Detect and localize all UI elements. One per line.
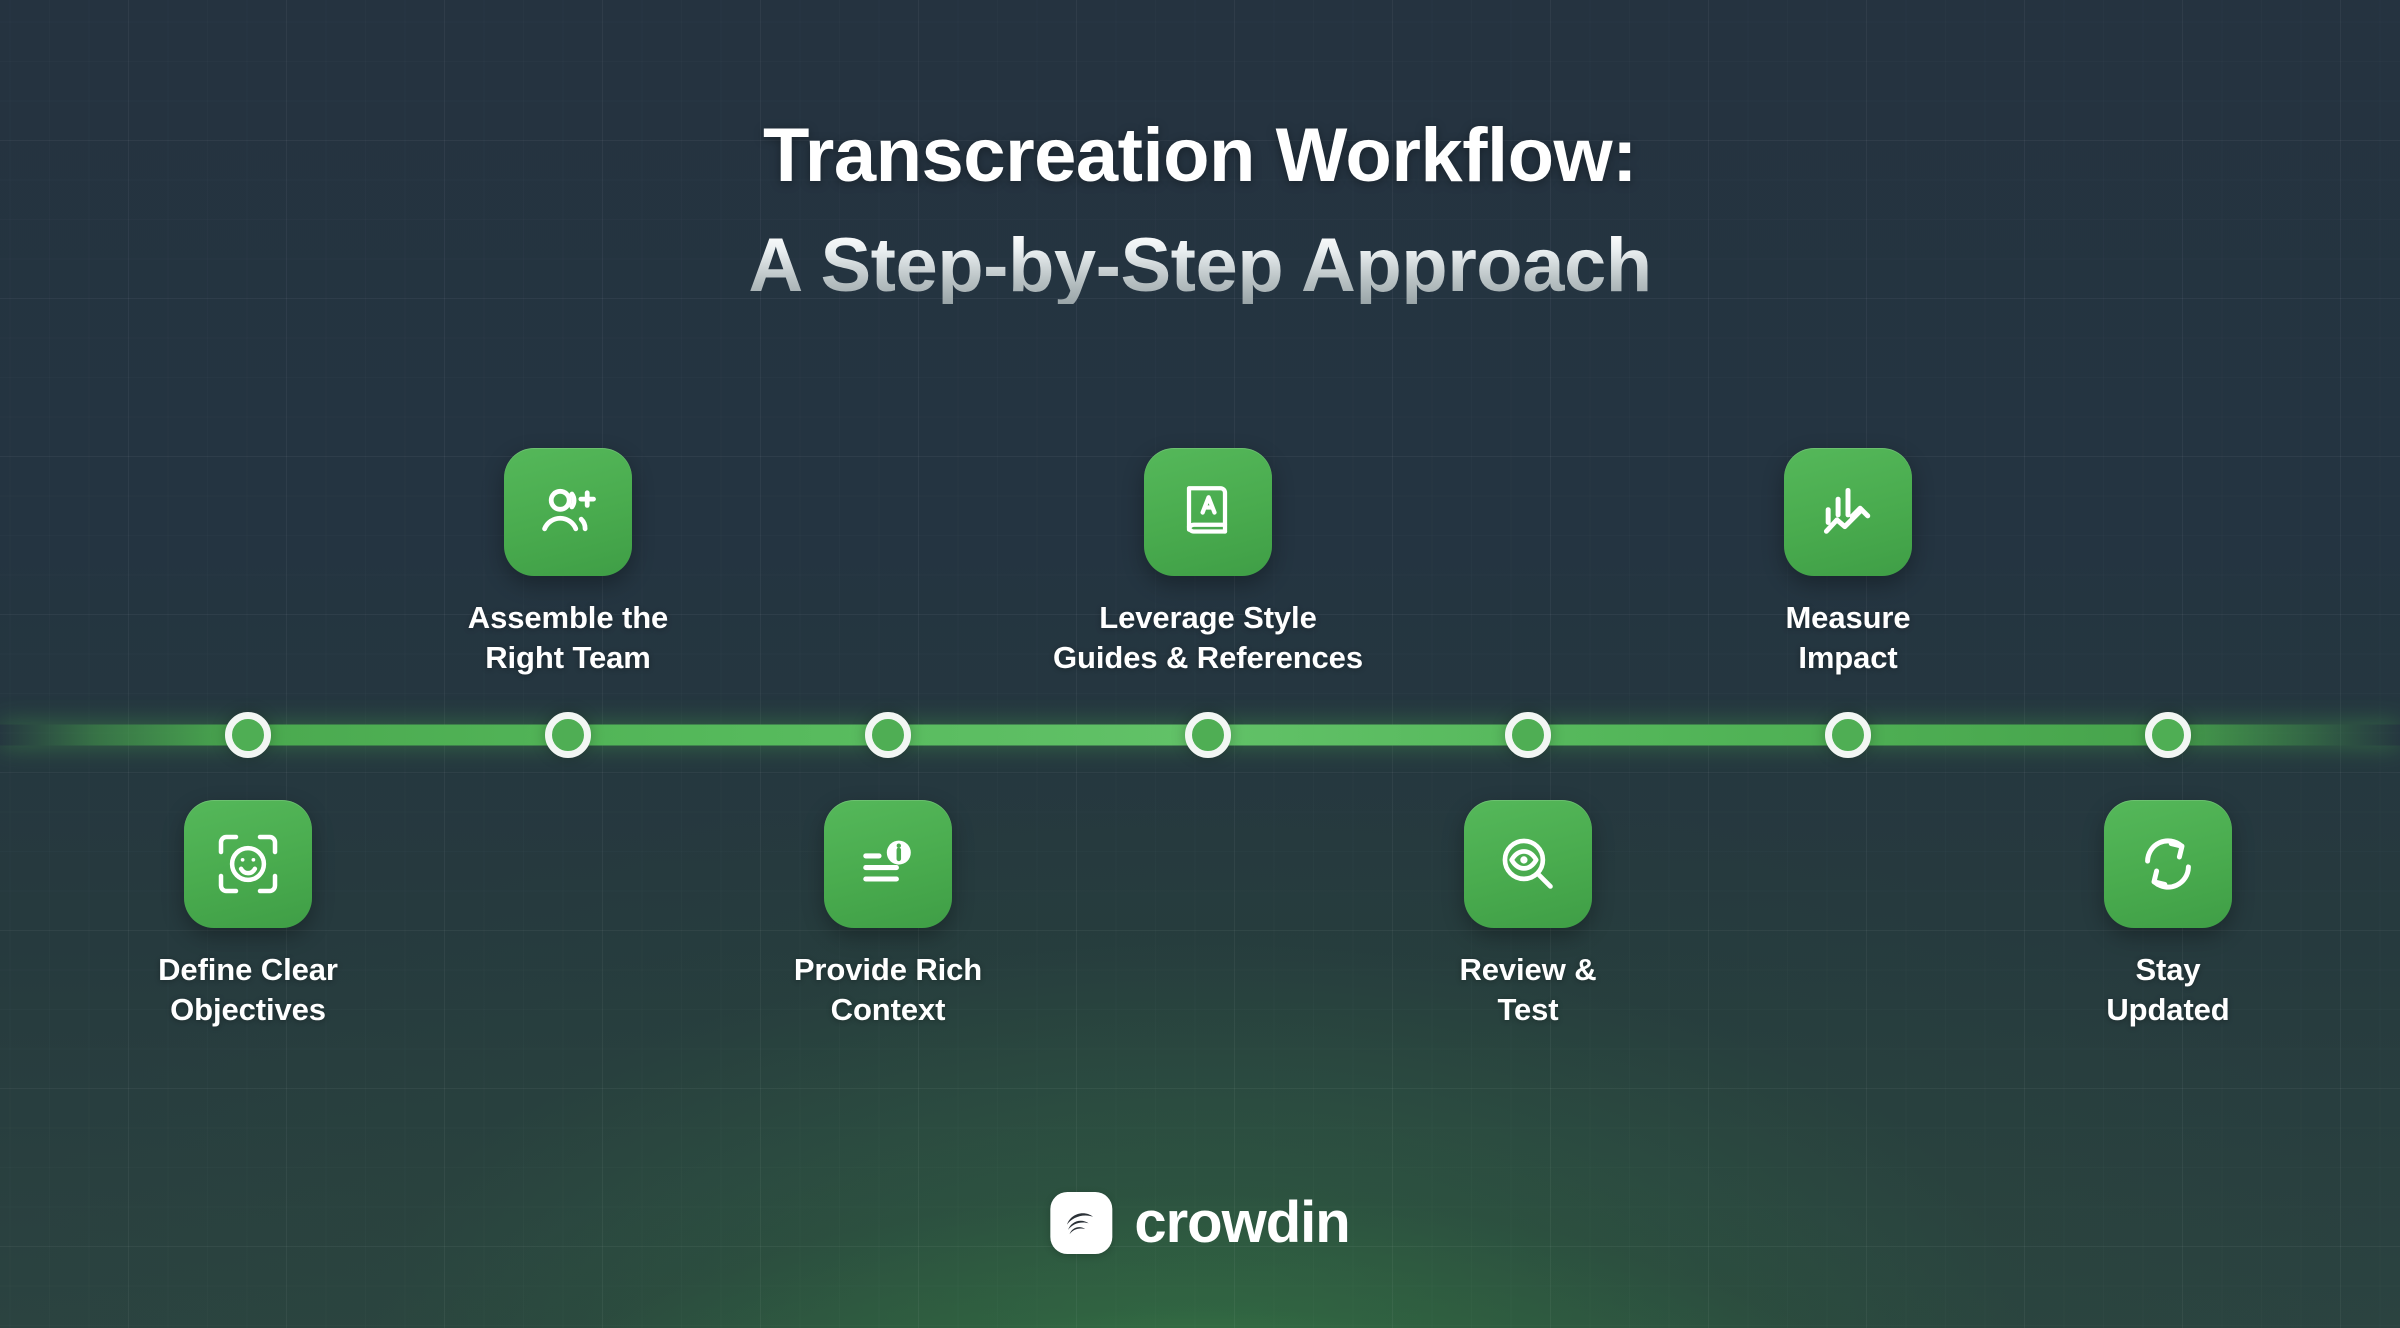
step-label: Measure Impact: [1668, 598, 2028, 677]
step-provide-rich-context[interactable]: Provide Rich Context: [708, 800, 1068, 1029]
user-plus-icon-tile: [504, 448, 632, 576]
crowdin-logo[interactable]: crowdin: [1050, 1192, 1349, 1254]
crowdin-wordmark: crowdin: [1134, 1194, 1349, 1252]
page-title: Transcreation Workflow: A Step-by-Step A…: [0, 118, 2400, 304]
bar-chart-trend-icon: [1813, 477, 1883, 547]
step-label-line2: Guides & References: [1028, 638, 1388, 678]
document-info-icon: [852, 828, 924, 900]
infographic-canvas: Transcreation Workflow: A Step-by-Step A…: [0, 0, 2400, 1328]
step-label-line1: Assemble the: [468, 600, 668, 635]
dictionary-book-icon: [1174, 478, 1242, 546]
step-measure-impact[interactable]: Measure Impact: [1668, 448, 2028, 677]
timeline-dot-3[interactable]: [865, 712, 911, 758]
refresh-sync-icon-tile: [2104, 800, 2232, 928]
step-label: Stay Updated: [1988, 950, 2348, 1029]
timeline-dot-6[interactable]: [1825, 712, 1871, 758]
step-label-line1: Leverage Style: [1099, 600, 1316, 635]
step-label-line1: Define Clear: [158, 952, 338, 987]
document-info-icon-tile: [824, 800, 952, 928]
step-label-line2: Impact: [1668, 638, 2028, 678]
dictionary-book-icon-tile: [1144, 448, 1272, 576]
timeline-dot-4[interactable]: [1185, 712, 1231, 758]
title-line-2: A Step-by-Step Approach: [0, 228, 2400, 304]
step-label: Leverage Style Guides & References: [1028, 598, 1388, 677]
timeline-dot-2[interactable]: [545, 712, 591, 758]
step-leverage-style-guides[interactable]: Leverage Style Guides & References: [1028, 448, 1388, 677]
step-label: Assemble the Right Team: [388, 598, 748, 677]
timeline-dot-7[interactable]: [2145, 712, 2191, 758]
step-label: Review & Test: [1348, 950, 1708, 1029]
timeline-dot-5[interactable]: [1505, 712, 1551, 758]
face-scan-icon-tile: [184, 800, 312, 928]
timeline-dot-1[interactable]: [225, 712, 271, 758]
step-define-clear-objectives[interactable]: Define Clear Objectives: [68, 800, 428, 1029]
eye-magnifier-icon-tile: [1464, 800, 1592, 928]
step-label-line1: Provide Rich: [794, 952, 982, 987]
step-label-line1: Measure: [1785, 600, 1910, 635]
step-label: Define Clear Objectives: [68, 950, 428, 1029]
step-review-and-test[interactable]: Review & Test: [1348, 800, 1708, 1029]
step-label-line2: Objectives: [68, 990, 428, 1030]
eye-magnifier-icon: [1493, 829, 1563, 899]
step-label-line1: Stay: [2135, 952, 2200, 987]
step-label-line2: Context: [708, 990, 1068, 1030]
crowdin-logo-mark: [1050, 1192, 1112, 1254]
bar-chart-trend-icon-tile: [1784, 448, 1912, 576]
title-line-1: Transcreation Workflow:: [0, 118, 2400, 194]
crowdin-swirl-icon: [1059, 1201, 1103, 1245]
user-plus-icon: [532, 476, 604, 548]
step-stay-updated[interactable]: Stay Updated: [1988, 800, 2348, 1029]
timeline-track: [0, 727, 2400, 743]
step-label: Provide Rich Context: [708, 950, 1068, 1029]
refresh-sync-icon: [2133, 829, 2203, 899]
step-label-line2: Test: [1348, 990, 1708, 1030]
step-label-line2: Updated: [1988, 990, 2348, 1030]
face-scan-icon: [212, 828, 284, 900]
step-assemble-right-team[interactable]: Assemble the Right Team: [388, 448, 748, 677]
step-label-line2: Right Team: [388, 638, 748, 678]
step-label-line1: Review &: [1459, 952, 1596, 987]
